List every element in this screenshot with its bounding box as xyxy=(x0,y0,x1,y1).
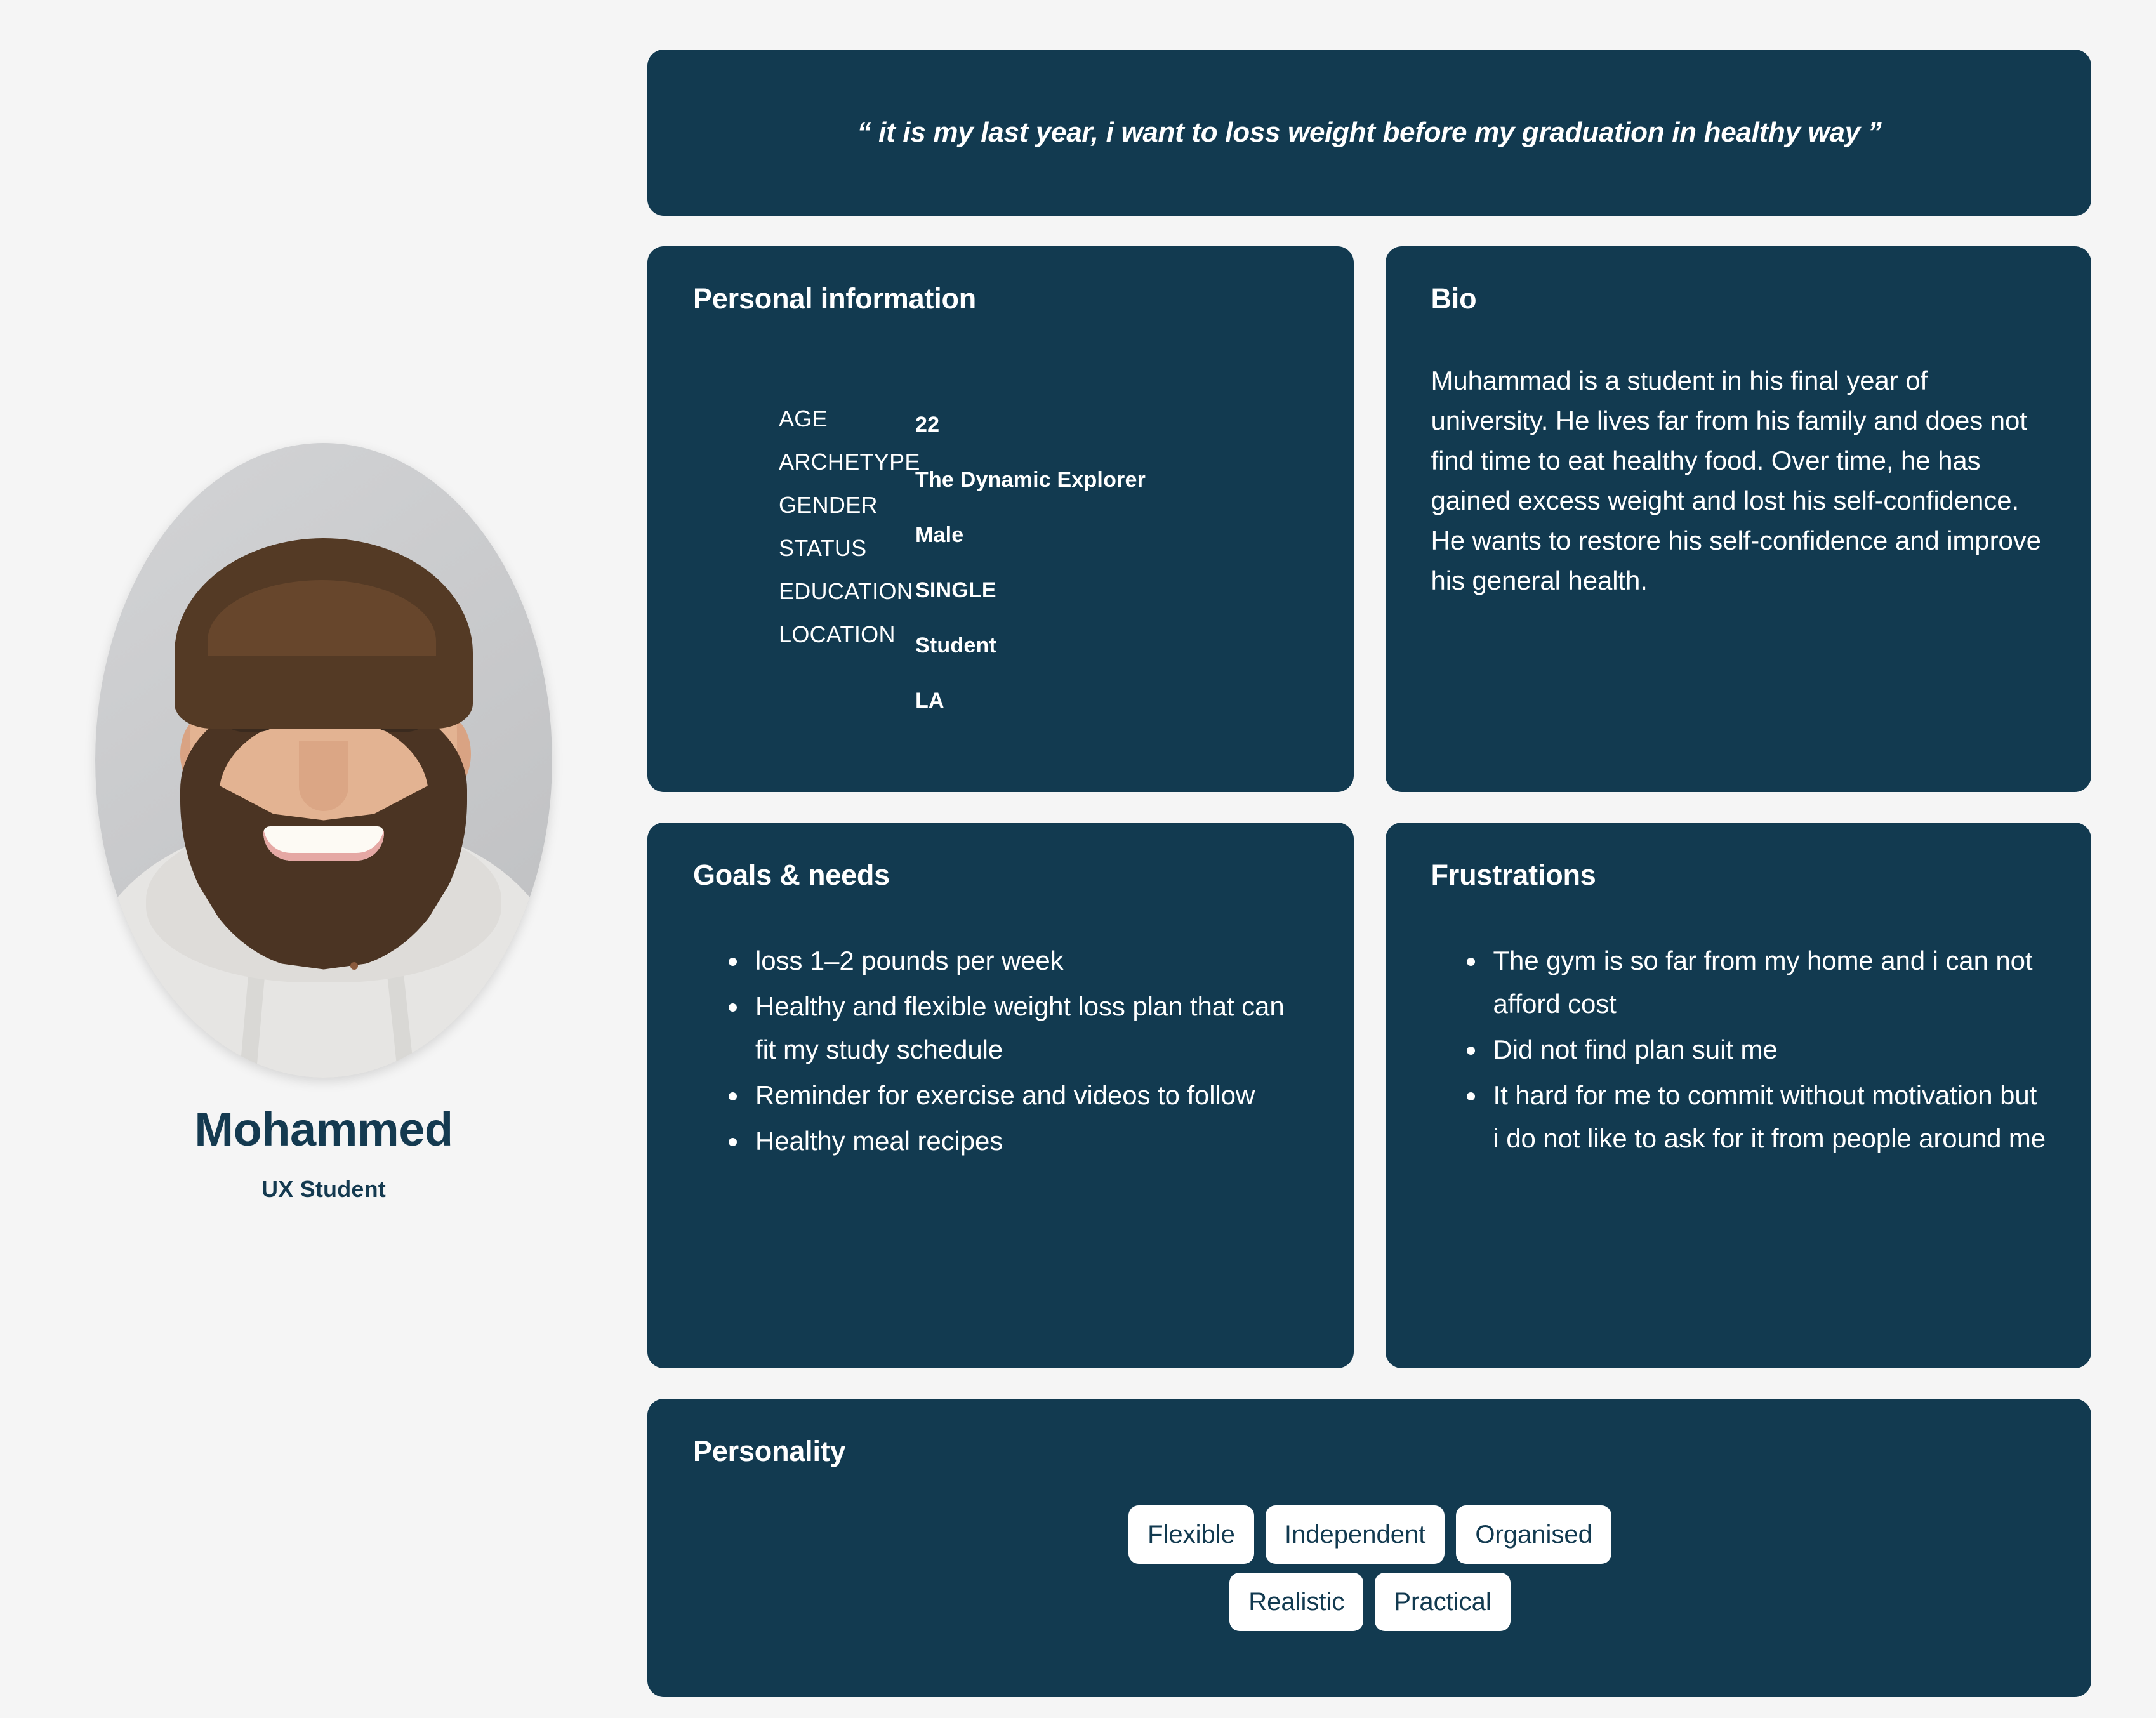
list-item: Healthy meal recipes xyxy=(729,1120,1309,1163)
person-name: Mohammed xyxy=(194,1106,453,1153)
personality-tag-row-one: Flexible Independent Organised xyxy=(1128,1505,1611,1564)
bio-text: Muhammad is a student in his final year … xyxy=(1431,360,2047,600)
goals-title: Goals & needs xyxy=(693,859,1309,891)
list-item: loss 1–2 pounds per week xyxy=(729,939,1309,982)
bio-title: Bio xyxy=(1431,283,2047,315)
info-value-location: LA xyxy=(915,673,1309,729)
goals-list: loss 1–2 pounds per week Healthy and fle… xyxy=(693,939,1309,1163)
avatar-wrapper xyxy=(92,440,555,1081)
list-item: It hard for me to commit without motivat… xyxy=(1467,1074,2047,1160)
quote-text: “ it is my last year, i want to loss wei… xyxy=(857,117,1882,149)
persona-page: Mohammed UX Student “ it is my last year… xyxy=(0,0,2156,1718)
personal-information-title: Personal information xyxy=(693,283,1309,315)
frustrations-list: The gym is so far from my home and i can… xyxy=(1431,939,2047,1160)
content-area: “ it is my last year, i want to loss wei… xyxy=(647,0,2156,1718)
personality-title: Personality xyxy=(693,1436,2047,1467)
cards-row-one: Personal information AGE ARCHETYPE GENDE… xyxy=(647,246,2091,792)
personal-information-value-column: 22 The Dynamic Explorer Male SINGLE Stud… xyxy=(915,397,1309,729)
quote-card: “ it is my last year, i want to loss wei… xyxy=(647,50,2091,216)
personal-information-table: AGE ARCHETYPE GENDER STATUS EDUCATION LO… xyxy=(693,397,1309,729)
list-item: Did not find plan suit me xyxy=(1467,1028,2047,1071)
personality-tag-flexible[interactable]: Flexible xyxy=(1128,1505,1254,1564)
cards-row-two: Goals & needs loss 1–2 pounds per week H… xyxy=(647,823,2091,1368)
personality-tag-organised[interactable]: Organised xyxy=(1456,1505,1611,1564)
goals-card: Goals & needs loss 1–2 pounds per week H… xyxy=(647,823,1354,1368)
info-value-archetype: The Dynamic Explorer xyxy=(915,453,1309,508)
list-item: Reminder for exercise and videos to foll… xyxy=(729,1074,1309,1117)
info-label-status: STATUS xyxy=(779,527,915,570)
personality-tag-row-two: Realistic Practical xyxy=(1229,1573,1511,1631)
personal-information-label-column: AGE ARCHETYPE GENDER STATUS EDUCATION LO… xyxy=(779,397,915,729)
frustrations-title: Frustrations xyxy=(1431,859,2047,891)
nose-shape xyxy=(299,741,348,811)
info-value-gender: Male xyxy=(915,508,1309,563)
personality-tag-rows: Flexible Independent Organised Realistic… xyxy=(693,1505,2047,1631)
avatar xyxy=(95,443,552,1078)
info-label-education: EDUCATION xyxy=(779,570,915,613)
personality-tag-independent[interactable]: Independent xyxy=(1266,1505,1445,1564)
personal-information-card: Personal information AGE ARCHETYPE GENDE… xyxy=(647,246,1354,792)
bio-card: Bio Muhammad is a student in his final y… xyxy=(1386,246,2092,792)
personality-tag-realistic[interactable]: Realistic xyxy=(1229,1573,1363,1631)
info-label-gender: GENDER xyxy=(779,484,915,527)
info-label-age: AGE xyxy=(779,397,915,440)
person-role: UX Student xyxy=(261,1176,386,1203)
hair-shape xyxy=(175,538,473,729)
portrait-illustration xyxy=(95,443,552,1078)
smile-shape xyxy=(263,826,384,861)
info-label-archetype: ARCHETYPE xyxy=(779,440,915,484)
list-item: Healthy and flexible weight loss plan th… xyxy=(729,985,1309,1071)
personality-card: Personality Flexible Independent Organis… xyxy=(647,1399,2091,1697)
mole-shape xyxy=(350,962,358,970)
info-value-education: Student xyxy=(915,618,1309,673)
profile-panel: Mohammed UX Student xyxy=(0,0,647,1718)
personality-tag-practical[interactable]: Practical xyxy=(1375,1573,1510,1631)
info-label-location: LOCATION xyxy=(779,613,915,656)
list-item: The gym is so far from my home and i can… xyxy=(1467,939,2047,1026)
info-value-age: 22 xyxy=(915,397,1309,453)
frustrations-card: Frustrations The gym is so far from my h… xyxy=(1386,823,2092,1368)
info-value-status: SINGLE xyxy=(915,563,1309,618)
